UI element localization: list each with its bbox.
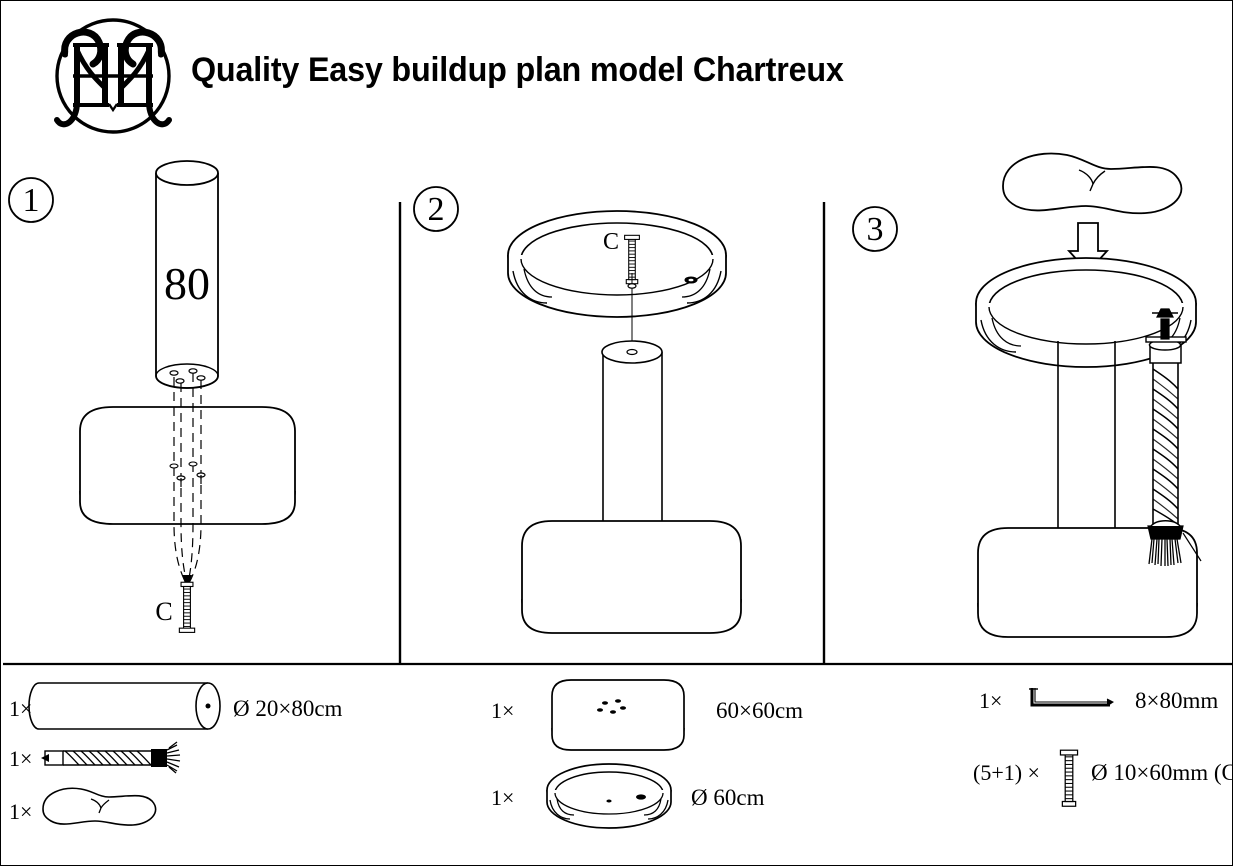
step3-base-plate [978, 528, 1197, 637]
part-rope-qty: 1× [9, 746, 32, 771]
step2-bowl-hole [628, 284, 636, 288]
allen-key-icon [1029, 688, 1113, 706]
part-post-spec: Ø 20×80cm [233, 696, 343, 721]
step2-bowl-side-hole [685, 277, 697, 283]
part-key-qty: 1× [979, 688, 1002, 713]
step-3: 3 [853, 153, 1201, 637]
step2-base-plate [522, 521, 741, 633]
step-2: 2 C [414, 187, 741, 633]
part-screw-spec: Ø 10×60mm (C) [1091, 760, 1233, 785]
step2-screw-label: C [603, 229, 619, 255]
instruction-sheet: Quality Easy buildup plan model Chartreu… [0, 0, 1233, 866]
parts-column-right: 1× 8×80mm (5+1) × Ø 10×60mm (C) [973, 688, 1233, 806]
part-row-screw: (5+1) × Ø 10×60mm (C) [973, 750, 1233, 806]
step1-post-label: 80 [164, 258, 210, 309]
part-row-post: 1× Ø 20×80cm [9, 683, 343, 729]
part-base-qty: 1× [491, 698, 514, 723]
post-cylinder-icon [29, 683, 220, 729]
step1-screw-label: C [155, 597, 172, 626]
step3-rope-toy [1146, 309, 1201, 566]
rope-toy-icon [41, 742, 180, 773]
parts-column-middle: 1× 60×60cm 1× [491, 680, 803, 828]
base-plate-icon [552, 680, 684, 750]
part-base-spec: 60×60cm [716, 698, 803, 723]
step3-cushion [1003, 153, 1181, 213]
part-key-spec: 8×80mm [1135, 688, 1218, 713]
bowl-icon [547, 764, 671, 828]
part-row-base-plate: 1× 60×60cm [491, 680, 803, 750]
part-row-bowl: 1× Ø 60cm [491, 764, 765, 828]
step-1: 1 80 [9, 161, 295, 632]
part-cushion-qty: 1× [9, 799, 32, 824]
part-row-rope: 1× [9, 742, 180, 773]
step-3-number: 3 [867, 211, 884, 248]
rr-monogram-logo [57, 20, 169, 132]
parts-column-left: 1× Ø 20×80cm 1× [9, 683, 343, 825]
step1-base-plate [80, 407, 295, 524]
diagram-canvas: 1 80 [1, 1, 1233, 867]
step1-screw-c [179, 582, 194, 632]
step-1-number: 1 [23, 182, 40, 219]
part-screw-qty: (5+1) × [973, 760, 1040, 785]
part-row-cushion: 1× [9, 788, 156, 825]
cushion-icon [43, 788, 156, 825]
step2-bowl [508, 211, 726, 317]
part-bowl-qty: 1× [491, 785, 514, 810]
screw-icon [1060, 750, 1077, 806]
part-row-allen-key: 1× 8×80mm [979, 688, 1218, 713]
part-bowl-spec: Ø 60cm [691, 785, 765, 810]
step-2-number: 2 [428, 191, 445, 228]
